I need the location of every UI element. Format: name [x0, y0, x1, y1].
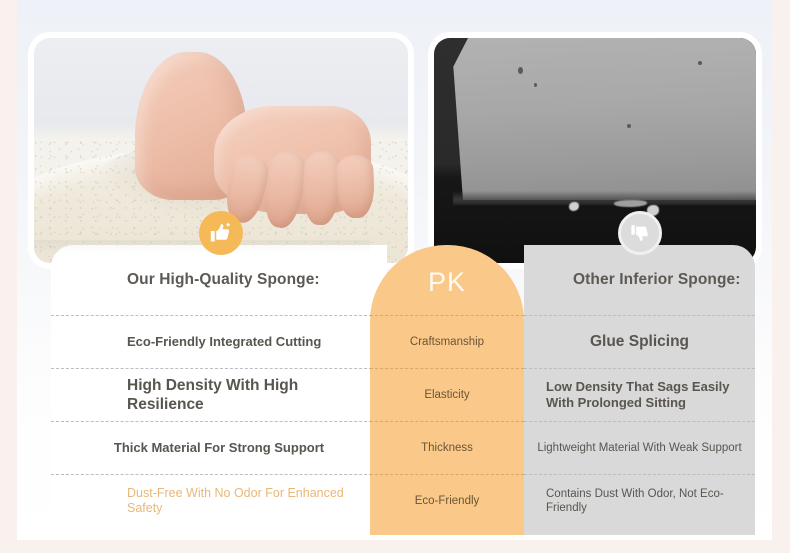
glue-seam-shape: [453, 191, 756, 205]
other-sponge-header-label: Other Inferior Sponge:: [573, 270, 741, 290]
our-sponge-header: Our High-Quality Sponge:: [51, 245, 387, 315]
infographic-page: Our High-Quality Sponge: Eco-Friendly In…: [0, 0, 790, 553]
table-row: Thick Material For Strong Support: [51, 421, 387, 474]
our-sponge-rows: Eco-Friendly Integrated Cutting High Den…: [51, 315, 387, 535]
criteria-column: PK Craftsmanship Elasticity Thickness Ec…: [370, 245, 524, 535]
table-row: Eco-Friendly: [370, 474, 524, 527]
our-value-thickness: Thick Material For Strong Support: [114, 440, 324, 456]
surface-blemish: [518, 67, 523, 74]
surface-blemish: [627, 124, 631, 128]
other-value-eco-friendly: Contains Dust With Odor, Not Eco-Friendl…: [524, 487, 755, 516]
glue-residue-shape: [614, 200, 646, 207]
table-row: Lightweight Material With Weak Support: [524, 421, 755, 474]
table-row: Craftsmanship: [370, 315, 524, 368]
table-row: Thickness: [370, 421, 524, 474]
our-sponge-header-label: Our High-Quality Sponge:: [127, 270, 320, 290]
table-row: Low Density That Sags Easily With Prolon…: [524, 368, 755, 421]
infographic-canvas: Our High-Quality Sponge: Eco-Friendly In…: [17, 0, 772, 540]
criterion-elasticity: Elasticity: [424, 388, 469, 402]
other-value-thickness: Lightweight Material With Weak Support: [537, 441, 741, 455]
pk-title: PK: [370, 245, 524, 315]
other-value-craftsmanship: Glue Splicing: [590, 332, 689, 351]
thumbs-up-icon: [199, 211, 243, 255]
gray-foam-scene: [434, 38, 756, 263]
our-value-elasticity: High Density With High Resilience: [51, 376, 387, 414]
criterion-craftsmanship: Craftsmanship: [410, 335, 484, 349]
our-value-eco-friendly: Dust-Free With No Odor For Enhanced Safe…: [51, 486, 387, 517]
table-row: Glue Splicing: [524, 315, 755, 368]
surface-blemish: [698, 61, 702, 65]
table-row: Eco-Friendly Integrated Cutting: [51, 315, 387, 368]
table-row: High Density With High Resilience: [51, 368, 387, 421]
surface-blemish: [534, 83, 537, 87]
our-value-craftsmanship: Eco-Friendly Integrated Cutting: [51, 334, 335, 350]
gray-foam-block-shape: [453, 38, 756, 200]
criterion-thickness: Thickness: [421, 441, 473, 455]
table-row: Dust-Free With No Odor For Enhanced Safe…: [51, 474, 387, 527]
comparison-table: Our High-Quality Sponge: Eco-Friendly In…: [34, 245, 772, 535]
right-product-photo: [434, 38, 756, 263]
glue-residue-shape: [569, 202, 579, 211]
thumbs-down-icon: [618, 211, 662, 255]
other-sponge-column: Other Inferior Sponge: Glue Splicing Low…: [524, 245, 755, 535]
table-row: Elasticity: [370, 368, 524, 421]
table-row: Contains Dust With Odor, Not Eco-Friendl…: [524, 474, 755, 527]
other-value-elasticity: Low Density That Sags Easily With Prolon…: [524, 379, 755, 411]
criteria-rows: Craftsmanship Elasticity Thickness Eco-F…: [370, 315, 524, 535]
criterion-eco-friendly: Eco-Friendly: [415, 494, 480, 508]
our-sponge-column: Our High-Quality Sponge: Eco-Friendly In…: [51, 245, 387, 535]
other-sponge-header: Other Inferior Sponge:: [524, 245, 755, 315]
other-sponge-rows: Glue Splicing Low Density That Sags Easi…: [524, 315, 755, 535]
